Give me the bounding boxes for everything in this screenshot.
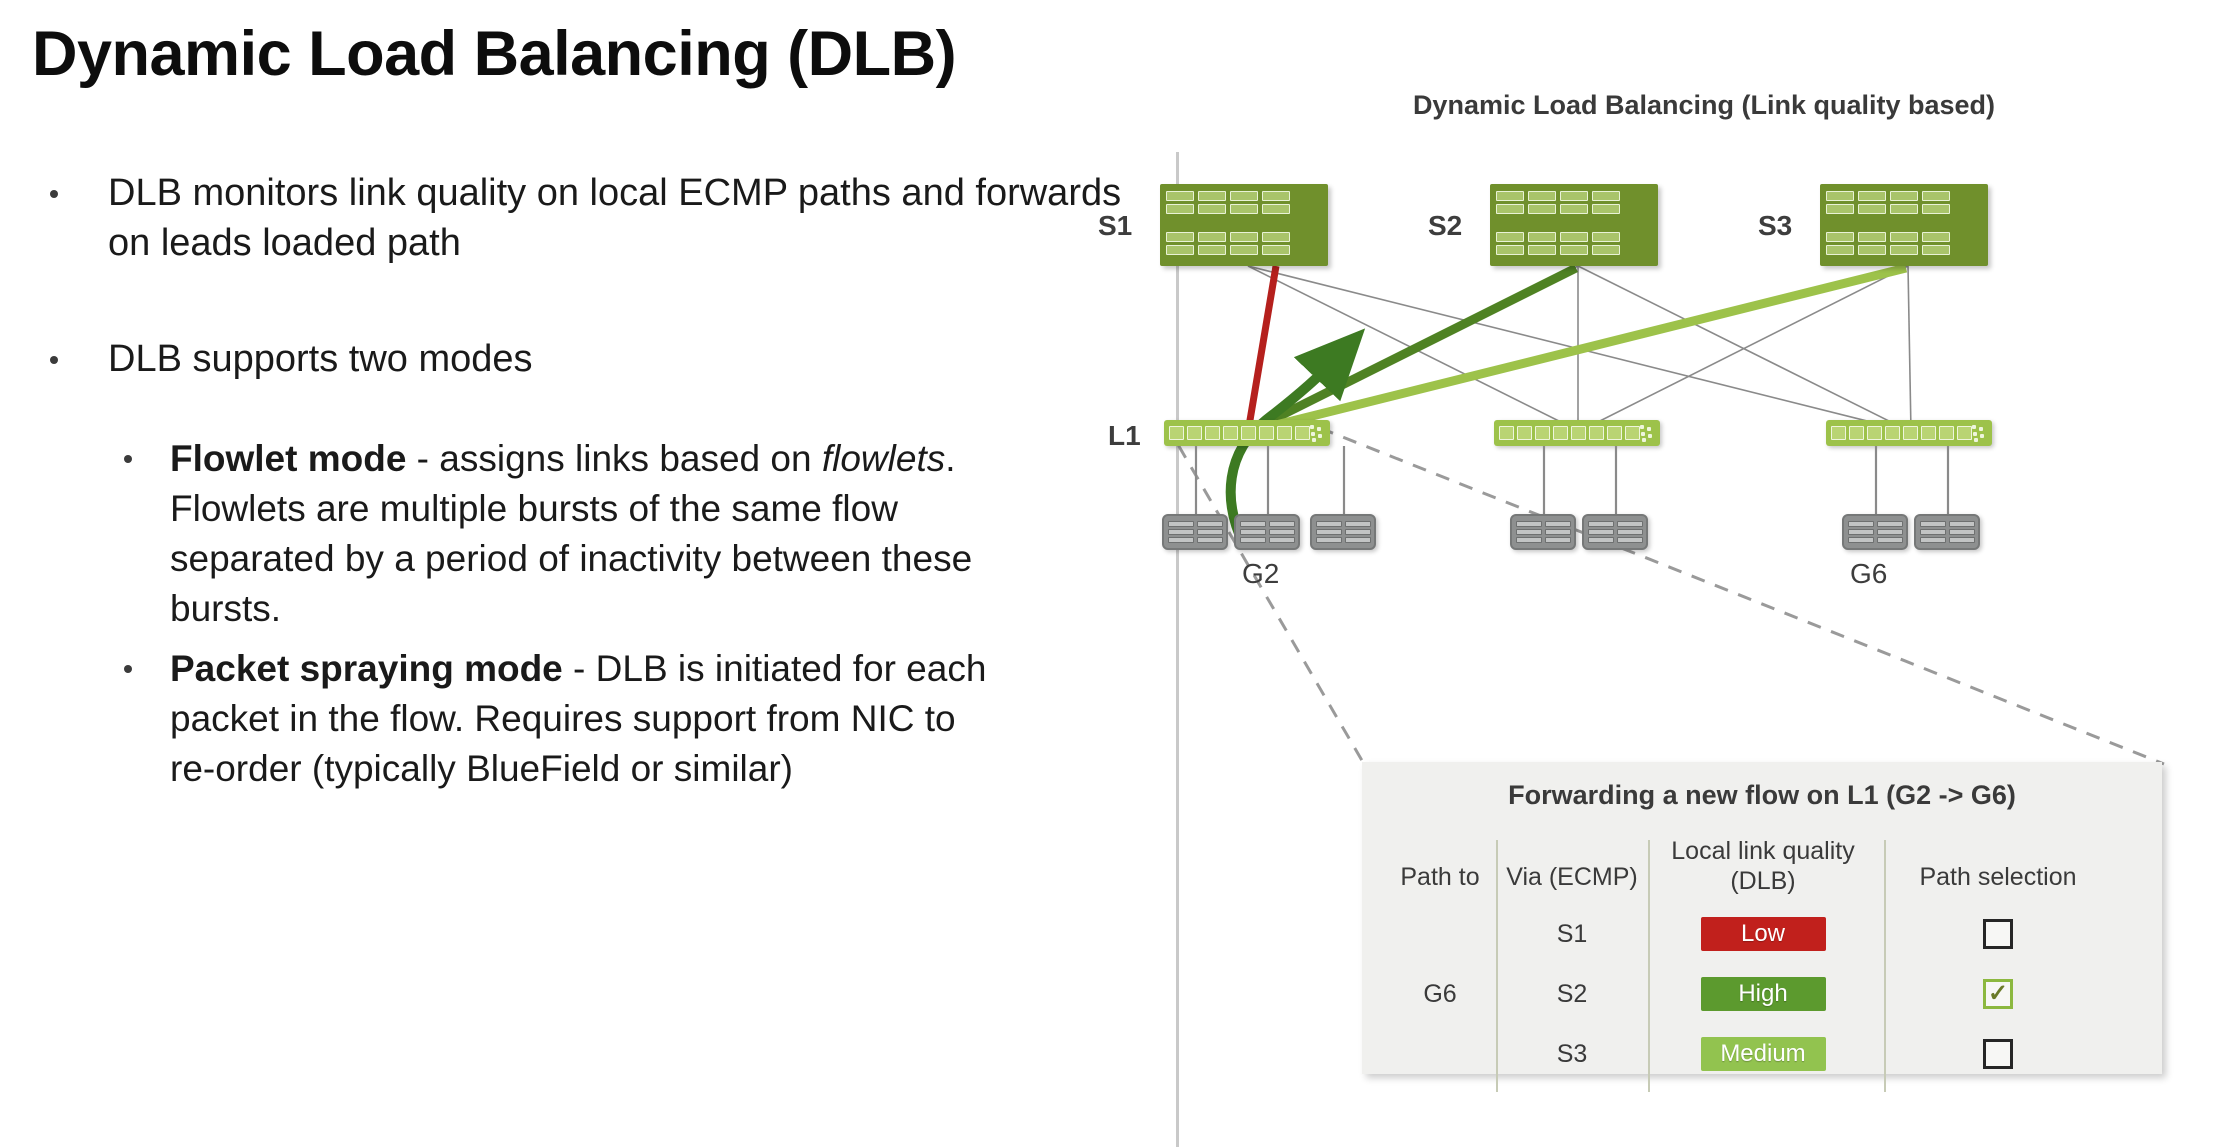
spine-port-group-bottom bbox=[1496, 232, 1620, 255]
spine-label-s3: S3 bbox=[1758, 210, 1792, 242]
callout-leader-right bbox=[1320, 428, 2164, 764]
bullet-body-part1: assigns links based on bbox=[439, 438, 822, 479]
spine-label-s1: S1 bbox=[1098, 210, 1132, 242]
spine-chassis bbox=[1160, 184, 1328, 266]
link-l1-s3-medium bbox=[1248, 268, 1906, 432]
spine-port-row bbox=[1496, 245, 1620, 255]
bullet-dash: - bbox=[406, 438, 439, 479]
spine-port-row bbox=[1496, 232, 1620, 242]
cell-selection-s2[interactable]: ✓ bbox=[1878, 964, 2118, 1024]
cell-selection-s1[interactable] bbox=[1878, 904, 2118, 964]
spacer bbox=[36, 392, 1136, 434]
bullet-dot-icon bbox=[50, 356, 58, 364]
spine-label-s2: S2 bbox=[1428, 210, 1462, 242]
spine-port-row bbox=[1166, 245, 1290, 255]
callout-leader-group bbox=[1176, 424, 2164, 764]
spine-port-group-bottom bbox=[1826, 232, 1950, 255]
column-header-path-to: Path to bbox=[1384, 836, 1496, 904]
cell-selection-s3[interactable] bbox=[1878, 1024, 2118, 1084]
server-bay bbox=[1545, 519, 1571, 545]
server-bay bbox=[1949, 519, 1975, 545]
spine-port-row bbox=[1496, 204, 1620, 214]
checkbox-path-s2[interactable]: ✓ bbox=[1983, 979, 2013, 1009]
check-icon: ✓ bbox=[1988, 982, 2008, 1006]
spine-port-row bbox=[1166, 232, 1290, 242]
cell-quality-s1: Low bbox=[1648, 904, 1878, 964]
spine-port-row bbox=[1826, 232, 1950, 242]
forwarding-table: Path to Via (ECMP) Local link quality (D… bbox=[1384, 836, 2140, 1084]
cell-via-s3: S3 bbox=[1496, 1024, 1648, 1084]
spine-chassis bbox=[1490, 184, 1658, 266]
server-chassis bbox=[1582, 514, 1648, 550]
spine-chassis bbox=[1820, 184, 1988, 266]
bullet-text: DLB monitors link quality on local ECMP … bbox=[108, 168, 1136, 268]
spine-port-group-top bbox=[1496, 191, 1620, 214]
server-bay bbox=[1877, 519, 1903, 545]
leaf-chassis bbox=[1826, 420, 1992, 446]
spacer bbox=[36, 276, 1136, 334]
bullet-text: Flowlet mode - assigns links based on fl… bbox=[170, 434, 1000, 634]
bullet-dash: - bbox=[563, 648, 596, 689]
bullet-text: Packet spraying mode - DLB is initiated … bbox=[170, 644, 1000, 794]
cell-quality-s2: High bbox=[1648, 964, 1878, 1024]
server-bay bbox=[1269, 519, 1295, 545]
server-chassis bbox=[1842, 514, 1908, 550]
spine-port-group-top bbox=[1826, 191, 1950, 214]
server-bay bbox=[1168, 519, 1194, 545]
slide-root: Dynamic Load Balancing (DLB) DLB monitor… bbox=[0, 0, 2232, 1147]
column-divider bbox=[1884, 840, 1886, 1092]
spine-switch-s3[interactable]: S3 bbox=[1820, 184, 1988, 266]
bullet-item-3-flowlet-mode: Flowlet mode - assigns links based on fl… bbox=[36, 434, 1136, 634]
server-node[interactable] bbox=[1914, 514, 1980, 550]
server-bay bbox=[1617, 519, 1643, 545]
status-badge-high: High bbox=[1701, 977, 1826, 1011]
server-chassis bbox=[1162, 514, 1228, 550]
checkbox-path-s3[interactable] bbox=[1983, 1039, 2013, 1069]
server-node-g6[interactable] bbox=[1842, 514, 1908, 550]
spine-port-group-bottom bbox=[1166, 232, 1290, 255]
server-node[interactable] bbox=[1310, 514, 1376, 550]
server-bay bbox=[1516, 519, 1542, 545]
status-badge-medium: Medium bbox=[1701, 1037, 1826, 1071]
spine-port-row bbox=[1826, 204, 1950, 214]
bullet-text: DLB supports two modes bbox=[108, 334, 1136, 384]
column-divider bbox=[1496, 840, 1498, 1092]
bullet-list: DLB monitors link quality on local ECMP … bbox=[36, 168, 1136, 804]
leaf-status-dots-icon bbox=[1310, 425, 1324, 441]
server-bay bbox=[1920, 519, 1946, 545]
bullet-item-1: DLB monitors link quality on local ECMP … bbox=[36, 168, 1136, 268]
server-node[interactable] bbox=[1510, 514, 1576, 550]
link-l1-s1-low bbox=[1248, 266, 1276, 432]
cell-path-to-g6: G6 bbox=[1384, 904, 1496, 1084]
column-header-local-link-quality: Local link quality (DLB) bbox=[1648, 836, 1878, 904]
bullet-item-2: DLB supports two modes bbox=[36, 334, 1136, 384]
server-bay bbox=[1240, 519, 1266, 545]
server-chassis bbox=[1310, 514, 1376, 550]
spine-port-group-top bbox=[1166, 191, 1290, 214]
leaf-status-dots-icon bbox=[1640, 425, 1654, 441]
spine-port-row bbox=[1166, 204, 1290, 214]
cell-via-s2: S2 bbox=[1496, 964, 1648, 1024]
server-node[interactable] bbox=[1582, 514, 1648, 550]
bullet-dot-icon bbox=[50, 190, 58, 198]
server-bay bbox=[1316, 519, 1342, 545]
bullet-item-4-packet-spraying-mode: Packet spraying mode - DLB is initiated … bbox=[36, 644, 1136, 794]
panel-title: Forwarding a new flow on L1 (G2 -> G6) bbox=[1362, 780, 2162, 811]
link-l1-s2-high bbox=[1248, 268, 1576, 432]
bullet-lead-label: Flowlet mode bbox=[170, 438, 406, 479]
leaf-switch-2[interactable] bbox=[1494, 420, 1660, 446]
cell-via-s1: S1 bbox=[1496, 904, 1648, 964]
bullet-dot-icon bbox=[124, 455, 132, 463]
spine-switch-s1[interactable]: S1 bbox=[1160, 184, 1328, 266]
bullet-dot-icon bbox=[124, 665, 132, 673]
spine-port-row bbox=[1166, 191, 1290, 201]
server-chassis bbox=[1234, 514, 1300, 550]
server-chassis bbox=[1914, 514, 1980, 550]
page-title: Dynamic Load Balancing (DLB) bbox=[32, 18, 956, 90]
server-group-label-g6: G6 bbox=[1850, 558, 1887, 590]
server-bay bbox=[1588, 519, 1614, 545]
server-bay bbox=[1197, 519, 1223, 545]
column-header-path-selection: Path selection bbox=[1878, 836, 2118, 904]
server-bay bbox=[1848, 519, 1874, 545]
server-node[interactable] bbox=[1162, 514, 1228, 550]
leaf-chassis bbox=[1164, 420, 1330, 446]
forwarding-table-panel: Forwarding a new flow on L1 (G2 -> G6) P… bbox=[1362, 762, 2162, 1074]
column-divider bbox=[1648, 840, 1650, 1092]
leaf-status-dots-icon bbox=[1972, 425, 1986, 441]
cell-quality-s3: Medium bbox=[1648, 1024, 1878, 1084]
leaf-label-l1: L1 bbox=[1108, 420, 1141, 452]
column-header-via-ecmp: Via (ECMP) bbox=[1496, 836, 1648, 904]
spine-port-row bbox=[1826, 245, 1950, 255]
bullet-italic-term: flowlets bbox=[822, 438, 945, 479]
leaf-chassis bbox=[1494, 420, 1660, 446]
spine-switch-s2[interactable]: S2 bbox=[1490, 184, 1658, 266]
leaf-switch-3[interactable] bbox=[1826, 420, 1992, 446]
checkbox-path-s1[interactable] bbox=[1983, 919, 2013, 949]
status-badge-low: Low bbox=[1701, 917, 1826, 951]
callout-leader-left bbox=[1176, 424, 1364, 764]
bullet-lead-label: Packet spraying mode bbox=[170, 648, 563, 689]
spine-port-row bbox=[1826, 191, 1950, 201]
server-chassis bbox=[1510, 514, 1576, 550]
server-group-label-g2: G2 bbox=[1242, 558, 1279, 590]
server-node-g2[interactable] bbox=[1234, 514, 1300, 550]
spine-port-row bbox=[1496, 191, 1620, 201]
idle-link-s3-l3 bbox=[1908, 266, 1911, 432]
leaf-switch-l1[interactable]: L1 bbox=[1164, 420, 1330, 446]
server-bay bbox=[1345, 519, 1371, 545]
